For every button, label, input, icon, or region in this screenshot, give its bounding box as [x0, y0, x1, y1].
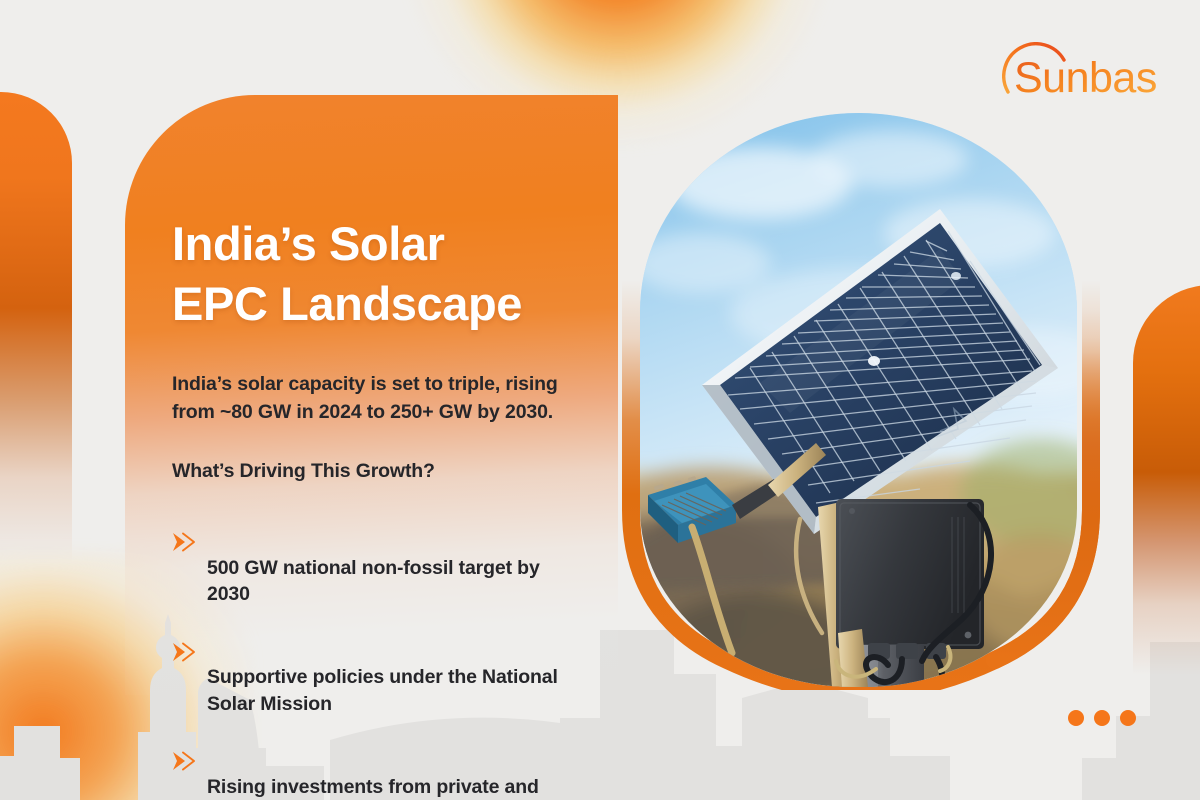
list-item: Supportive policies under the National S…: [172, 611, 602, 718]
infographic-canvas: Sunbase India’s Solar EPC Landscape Indi…: [0, 0, 1200, 800]
double-chevron-icon: [172, 504, 200, 526]
list-item: Rising investments from private and inte…: [172, 721, 602, 800]
double-chevron-icon: [172, 614, 200, 636]
list-item-label: 500 GW national non-fossil target by 203…: [207, 557, 540, 606]
dot-2: [1094, 710, 1110, 726]
photo-frame: [622, 110, 1100, 690]
copy-block: India’s Solar EPC Landscape India’s sola…: [172, 214, 602, 800]
right-accent-shape-decoration: [1133, 285, 1200, 675]
sunbase-logo[interactable]: Sunbase: [1002, 40, 1158, 104]
list-item-label: Rising investments from private and inte…: [207, 776, 539, 800]
drivers-question: What’s Driving This Growth?: [172, 459, 602, 484]
dot-1: [1068, 710, 1084, 726]
drivers-list: 500 GW national non-fossil target by 203…: [172, 501, 602, 800]
page-title: India’s Solar EPC Landscape: [172, 214, 602, 333]
list-item-label: Supportive policies under the National S…: [207, 666, 558, 715]
decorative-dots: [1068, 710, 1136, 726]
left-accent-bar-decoration: [0, 92, 72, 562]
svg-text:Sunbase: Sunbase: [1014, 54, 1158, 102]
list-item: 500 GW national non-fossil target by 203…: [172, 501, 602, 608]
double-chevron-icon: [172, 724, 200, 746]
solar-panel-photo: [640, 113, 1077, 687]
lede-paragraph: India’s solar capacity is set to triple,…: [172, 371, 602, 426]
dot-3: [1120, 710, 1136, 726]
